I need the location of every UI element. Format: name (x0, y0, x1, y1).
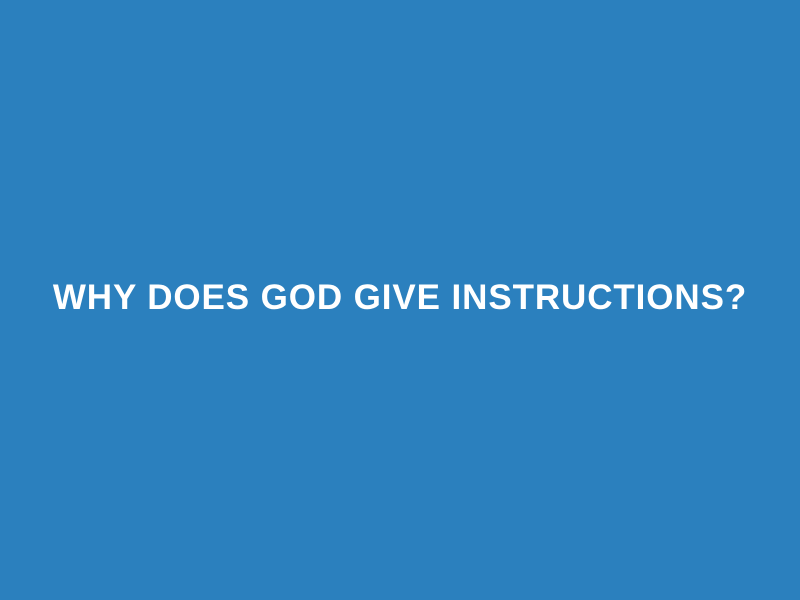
title-banner: WHY DOES GOD GIVE INSTRUCTIONS? (0, 0, 800, 600)
title-container: WHY DOES GOD GIVE INSTRUCTIONS? (0, 0, 800, 600)
page-title: WHY DOES GOD GIVE INSTRUCTIONS? (53, 277, 747, 319)
